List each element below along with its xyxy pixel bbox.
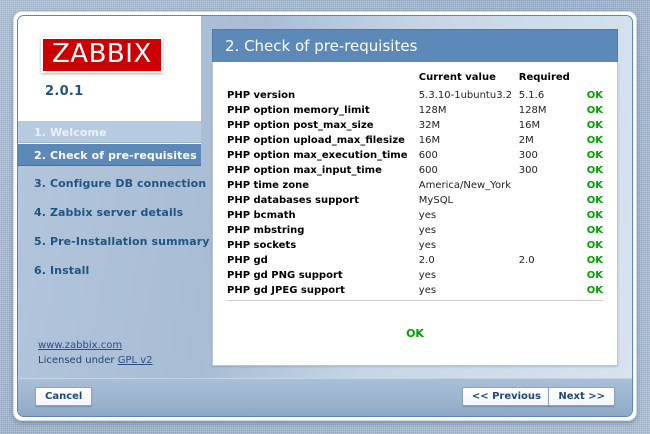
column-header-required: Required (519, 72, 587, 88)
cell-status: OK (587, 208, 603, 223)
sidebar-item-label: 1. Welcome (34, 126, 107, 139)
brand-area: ZABBIX 2.0.1 (18, 16, 201, 121)
column-header-name (227, 72, 419, 88)
table-row: PHP sockets yes OK (227, 238, 603, 253)
sidebar-item-welcome[interactable]: 1. Welcome (18, 120, 201, 143)
zabbix-logo-text: ZABBIX (52, 39, 152, 69)
cell-current: 2.0 (419, 253, 519, 268)
sidebar-item-preinstall-summary[interactable]: 5. Pre-Installation summary (18, 230, 201, 253)
cell-status: OK (587, 103, 603, 118)
sidebar-item-label: 5. Pre-Installation summary (34, 235, 210, 248)
cell-required: 300 (519, 148, 587, 163)
content-area: 2. Check of pre-requisites Current value… (201, 16, 632, 379)
cell-required (519, 268, 587, 283)
zabbix-logo: ZABBIX (41, 37, 163, 73)
cell-status: OK (587, 268, 603, 283)
prerequisites-table: Current value Required PHP version 5.3.1… (227, 72, 603, 301)
table-row: PHP version 5.3.10-1ubuntu3.2 5.1.6 OK (227, 88, 603, 103)
table-row: PHP time zone America/New_York OK (227, 178, 603, 193)
sidebar-item-label: 3. Configure DB connection (34, 177, 206, 190)
cell-status: OK (587, 178, 603, 193)
table-row: PHP option max_execution_time 600 300 OK (227, 148, 603, 163)
cell-name: PHP option post_max_size (227, 118, 419, 133)
cell-required (519, 223, 587, 238)
sidebar-item-server-details[interactable]: 4. Zabbix server details (18, 201, 201, 224)
cell-status: OK (587, 238, 603, 253)
table-head: Current value Required (227, 72, 603, 88)
cell-status: OK (587, 193, 603, 208)
cell-required (519, 208, 587, 223)
cell-name: PHP gd (227, 253, 419, 268)
cell-current: 128M (419, 103, 519, 118)
next-button[interactable]: Next >> (548, 387, 615, 406)
cell-current: 5.3.10-1ubuntu3.2 (419, 88, 519, 103)
table-body: PHP version 5.3.10-1ubuntu3.2 5.1.6 OK P… (227, 88, 603, 301)
cell-status: OK (587, 223, 603, 238)
wizard-footer: Cancel << Previous Next >> (18, 378, 632, 416)
cell-current: yes (419, 238, 519, 253)
sidebar-item-configure-db[interactable]: 3. Configure DB connection (18, 172, 201, 195)
cell-current: yes (419, 268, 519, 283)
cell-required (519, 283, 587, 301)
cell-name: PHP gd PNG support (227, 268, 419, 283)
cell-status: OK (587, 133, 603, 148)
overall-status: OK (227, 327, 603, 340)
wizard-steps-nav: 1. Welcome 2. Check of pre-requisites 3.… (18, 120, 201, 282)
cell-status: OK (587, 118, 603, 133)
page-title: 2. Check of pre-requisites (212, 29, 618, 62)
cell-name: PHP gd JPEG support (227, 283, 419, 301)
gpl-license-link[interactable]: GPL v2 (118, 355, 153, 366)
table-row: PHP gd PNG support yes OK (227, 268, 603, 283)
table-row: PHP gd 2.0 2.0 OK (227, 253, 603, 268)
column-header-status (587, 72, 603, 88)
cell-status: OK (587, 253, 603, 268)
cell-required: 16M (519, 118, 587, 133)
cancel-button[interactable]: Cancel (35, 387, 92, 406)
cell-status: OK (587, 163, 603, 178)
cell-required: 5.1.6 (519, 88, 587, 103)
table-row: PHP option upload_max_filesize 16M 2M OK (227, 133, 603, 148)
sidebar-item-check-prerequisites[interactable]: 2. Check of pre-requisites (18, 143, 201, 166)
cell-required: 128M (519, 103, 587, 118)
cell-name: PHP time zone (227, 178, 419, 193)
cell-status: OK (587, 88, 603, 103)
sidebar: ZABBIX 2.0.1 1. Welcome 2. Check of pre-… (18, 16, 201, 379)
cell-current: 600 (419, 148, 519, 163)
installer-window: ZABBIX 2.0.1 1. Welcome 2. Check of pre-… (13, 11, 637, 421)
license-prefix-text: Licensed under (38, 355, 118, 366)
cell-current: 600 (419, 163, 519, 178)
cell-name: PHP version (227, 88, 419, 103)
cell-required (519, 238, 587, 253)
table-row: PHP gd JPEG support yes OK (227, 283, 603, 301)
cell-current: MySQL (419, 193, 519, 208)
sidebar-item-label: 2. Check of pre-requisites (34, 149, 197, 162)
cell-name: PHP option max_execution_time (227, 148, 419, 163)
table-row: PHP option memory_limit 128M 128M OK (227, 103, 603, 118)
table-row: PHP databases support MySQL OK (227, 193, 603, 208)
cell-current: 16M (419, 133, 519, 148)
cell-name: PHP databases support (227, 193, 419, 208)
installer-window-inner: ZABBIX 2.0.1 1. Welcome 2. Check of pre-… (17, 15, 633, 417)
previous-button[interactable]: << Previous (462, 387, 551, 406)
cell-current: 32M (419, 118, 519, 133)
version-label: 2.0.1 (45, 84, 84, 99)
sidebar-footer: www.zabbix.com Licensed under GPL v2 (38, 338, 153, 368)
cell-current: America/New_York (419, 178, 519, 193)
cell-name: PHP option max_input_time (227, 163, 419, 178)
license-row: Licensed under GPL v2 (38, 353, 153, 368)
cell-current: yes (419, 223, 519, 238)
cell-required (519, 178, 587, 193)
sidebar-item-label: 4. Zabbix server details (34, 206, 183, 219)
site-link-row: www.zabbix.com (38, 338, 153, 353)
cell-name: PHP sockets (227, 238, 419, 253)
cell-required: 300 (519, 163, 587, 178)
table-row: PHP option post_max_size 32M 16M OK (227, 118, 603, 133)
cell-status: OK (587, 148, 603, 163)
cell-status: OK (587, 283, 603, 301)
column-header-current-value: Current value (419, 72, 519, 88)
cell-required: 2M (519, 133, 587, 148)
cell-name: PHP option upload_max_filesize (227, 133, 419, 148)
cell-name: PHP bcmath (227, 208, 419, 223)
zabbix-website-link[interactable]: www.zabbix.com (38, 340, 122, 351)
cell-required: 2.0 (519, 253, 587, 268)
content-card: 2. Check of pre-requisites Current value… (212, 29, 618, 366)
table-row: PHP mbstring yes OK (227, 223, 603, 238)
sidebar-item-label: 6. Install (34, 264, 89, 277)
table-row: PHP bcmath yes OK (227, 208, 603, 223)
table-row: PHP option max_input_time 600 300 OK (227, 163, 603, 178)
content-body: Current value Required PHP version 5.3.1… (212, 62, 618, 366)
cell-name: PHP mbstring (227, 223, 419, 238)
cell-current: yes (419, 283, 519, 301)
cell-current: yes (419, 208, 519, 223)
cell-required (519, 193, 587, 208)
sidebar-item-install[interactable]: 6. Install (18, 259, 201, 282)
cell-name: PHP option memory_limit (227, 103, 419, 118)
installer-page: ZABBIX 2.0.1 1. Welcome 2. Check of pre-… (18, 16, 632, 379)
table-header-row: Current value Required (227, 72, 603, 88)
